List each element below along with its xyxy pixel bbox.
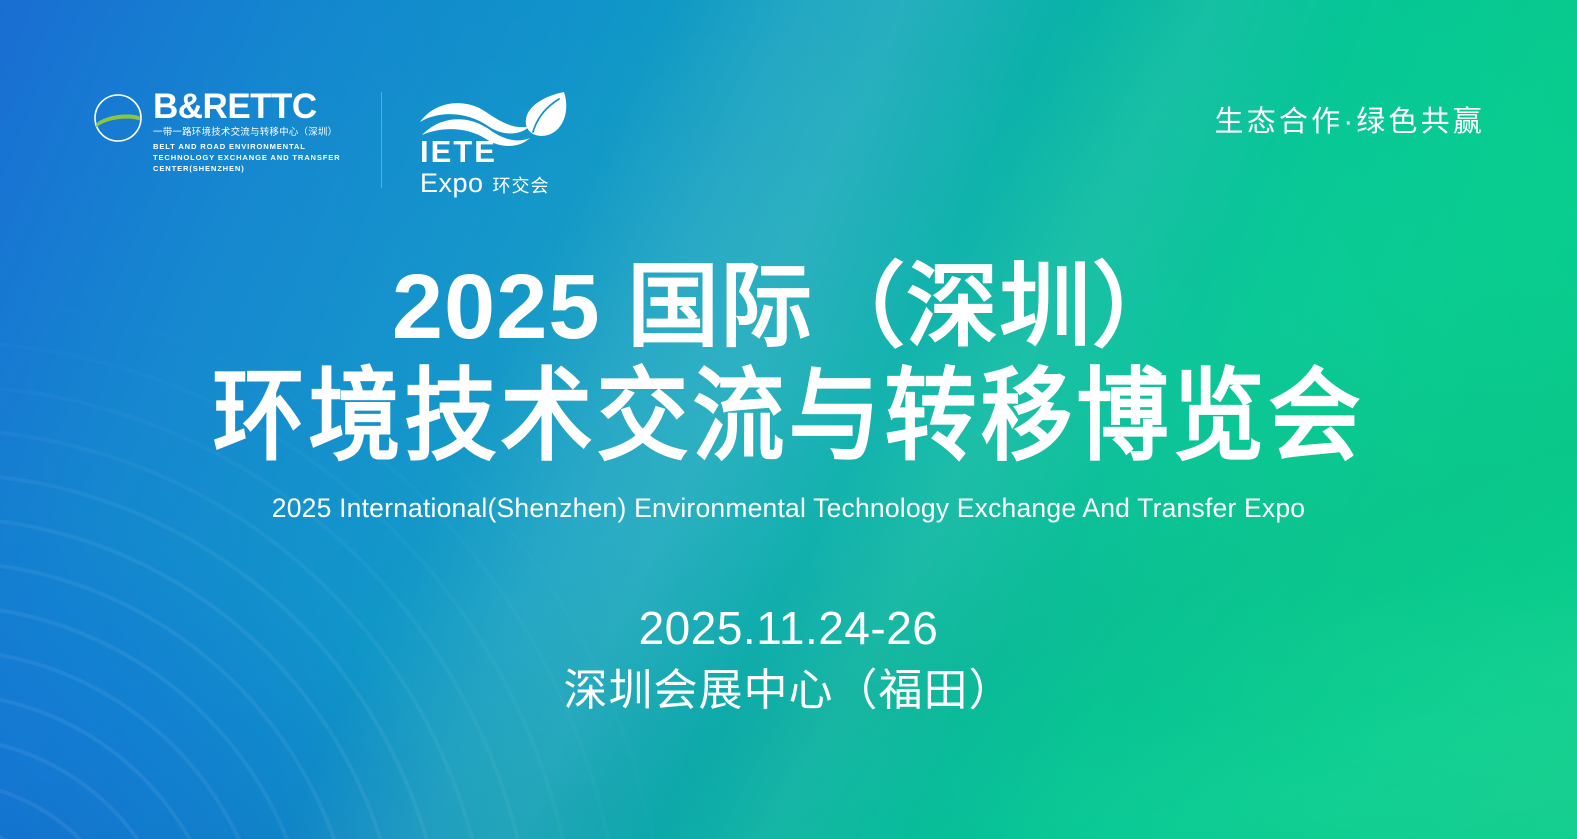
banner-header: B&RETTC 一带一路环境技术交流与转移中心（深圳） BELT AND ROA…	[92, 88, 1485, 188]
event-title-line1: 2025 国际（深圳）	[0, 258, 1577, 357]
event-title-line2: 环境技术交流与转移博览会	[0, 363, 1577, 472]
iete-second-row: Expo 环交会	[420, 170, 550, 197]
header-slogan: 生态合作·绿色共赢	[1215, 88, 1485, 140]
brettc-english-name: BELT AND ROAD ENVIRONMENTAL TECHNOLOGY E…	[153, 141, 349, 174]
event-venue: 深圳会展中心（福田）	[0, 662, 1577, 719]
banner-content: B&RETTC 一带一路环境技术交流与转移中心（深圳） BELT AND ROA…	[0, 0, 1577, 839]
brettc-chinese-name: 一带一路环境技术交流与转移中心（深圳）	[153, 127, 349, 140]
logo-brettc[interactable]: B&RETTC 一带一路环境技术交流与转移中心（深圳） BELT AND ROA…	[92, 88, 349, 174]
title-block: 2025 国际（深圳） 环境技术交流与转移博览会 2025 Internatio…	[0, 258, 1577, 524]
logo-group: B&RETTC 一带一路环境技术交流与转移中心（深圳） BELT AND ROA…	[92, 88, 574, 188]
event-subtitle-english: 2025 International(Shenzhen) Environment…	[0, 493, 1577, 524]
brettc-wordmark: B&RETTC	[153, 90, 349, 123]
iete-chinese-name: 环交会	[493, 177, 550, 195]
event-date: 2025.11.24-26	[0, 600, 1577, 658]
logo-divider	[381, 92, 382, 188]
globe-meridian-icon	[92, 92, 144, 144]
logo-iete-expo[interactable]: IETE Expo 环交会	[414, 88, 574, 188]
iete-text-block: IETE Expo 环交会	[420, 136, 550, 197]
iete-expo-word: Expo	[420, 170, 484, 197]
event-banner: B&RETTC 一带一路环境技术交流与转移中心（深圳） BELT AND ROA…	[0, 0, 1577, 839]
iete-abbr: IETE	[420, 136, 550, 167]
brettc-text-block: B&RETTC 一带一路环境技术交流与转移中心（深圳） BELT AND ROA…	[153, 90, 349, 174]
date-venue-block: 2025.11.24-26 深圳会展中心（福田）	[0, 600, 1577, 719]
